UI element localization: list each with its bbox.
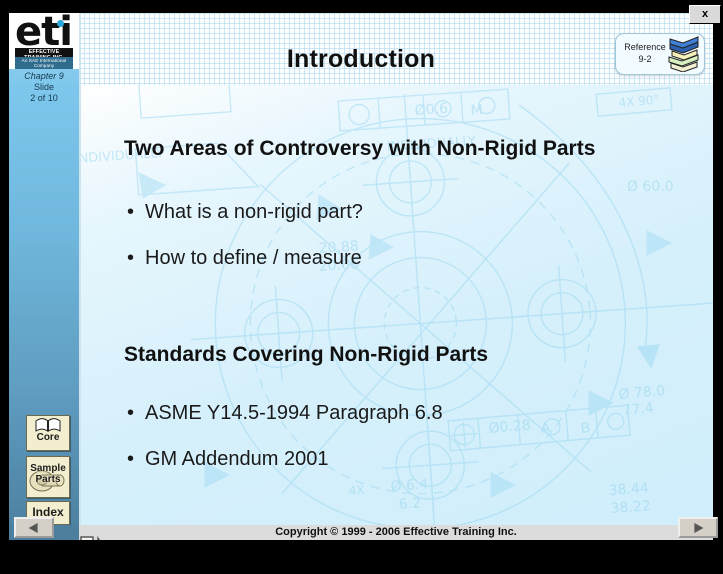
slide-canvas: Introduction — [9, 13, 713, 540]
bullet-text: What is a non-rigid part? — [145, 201, 363, 223]
svg-text:Ø 60.0: Ø 60.0 — [627, 179, 674, 195]
next-slide-button[interactable] — [678, 517, 718, 538]
svg-text:A: A — [540, 420, 551, 437]
section-heading-2: Standards Covering Non-Rigid Parts — [124, 343, 488, 367]
bullet-item: •ASME Y14.5-1994 Paragraph 6.8 — [127, 402, 443, 425]
sidebar-button-sample-parts[interactable]: SampleParts — [26, 456, 70, 498]
bullet-item: •GM Addendum 2001 — [127, 448, 328, 471]
bullet-item: •What is a non-rigid part? — [127, 201, 363, 224]
close-button[interactable]: x — [689, 5, 721, 24]
logo-dot — [57, 20, 64, 27]
svg-text:Ø0.6: Ø0.6 — [414, 101, 448, 119]
reference-label: Reference 9-2 — [620, 41, 670, 65]
page-title: Introduction — [9, 45, 713, 74]
logo-subtagline: An SAE International Company — [15, 57, 73, 69]
bullet-text: GM Addendum 2001 — [145, 448, 328, 470]
bullet-glyph: • — [127, 201, 145, 224]
svg-text:77.4: 77.4 — [622, 400, 655, 419]
chapter-label: Chapter 9 — [9, 71, 79, 82]
previous-slide-button[interactable] — [14, 517, 54, 538]
chevron-left-icon — [29, 523, 38, 533]
chevron-right-icon — [694, 523, 703, 533]
svg-text:6.2: 6.2 — [398, 495, 421, 513]
reference-line-1: Reference — [620, 41, 670, 53]
sidebar-button-sample-parts-label: SampleParts — [27, 457, 69, 485]
eti-logo: eti EFFECTIVE TRAINING INC. An SAE Inter… — [13, 13, 75, 69]
sidebar-button-core-label: Core — [27, 432, 69, 443]
bullet-item: •How to define / measure — [127, 247, 362, 270]
open-book-icon — [35, 418, 61, 432]
bullet-text: ASME Y14.5-1994 Paragraph 6.8 — [145, 402, 443, 424]
svg-text:4X 90°: 4X 90° — [618, 92, 660, 110]
application-window: Introduction — [0, 0, 723, 574]
slide-content-area: 12.8 12.7 -6.0-6.6 DEEP Ø0.6 M 4X 90° Ø … — [79, 85, 713, 525]
svg-text:B: B — [580, 420, 591, 437]
stacked-books-icon — [665, 36, 701, 72]
svg-text:Ø0.28: Ø0.28 — [488, 417, 531, 437]
footer-bar: Copyright © 1999 - 2006 Effective Traini… — [9, 525, 713, 540]
svg-text:4X: 4X — [348, 483, 365, 498]
svg-text:Ø 6.4: Ø 6.4 — [390, 476, 429, 495]
exit-door-icon[interactable] — [80, 535, 102, 540]
sidebar-button-core[interactable]: Core — [26, 415, 70, 451]
svg-text:M: M — [470, 102, 483, 119]
reference-button[interactable]: Reference 9-2 — [615, 33, 705, 75]
slide-word-label: Slide — [9, 82, 79, 93]
svg-text:38.22: 38.22 — [610, 498, 651, 517]
reference-line-2: 9-2 — [620, 53, 670, 65]
bullet-glyph: • — [127, 402, 145, 425]
left-sidebar: eti EFFECTIVE TRAINING INC. An SAE Inter… — [9, 13, 81, 540]
svg-text:38.44: 38.44 — [608, 480, 649, 499]
slide-position-label: 2 of 10 — [9, 93, 79, 104]
bullet-text: How to define / measure — [145, 247, 362, 269]
svg-text:Ø 78.0: Ø 78.0 — [618, 383, 666, 403]
bullet-glyph: • — [127, 247, 145, 270]
chapter-info: Chapter 9 Slide 2 of 10 — [9, 71, 79, 104]
bullet-glyph: • — [127, 448, 145, 471]
copyright-text: Copyright © 1999 - 2006 Effective Traini… — [79, 525, 713, 540]
section-heading-1: Two Areas of Controversy with Non-Rigid … — [124, 137, 595, 161]
logo-panel: eti EFFECTIVE TRAINING INC. An SAE Inter… — [9, 13, 79, 69]
